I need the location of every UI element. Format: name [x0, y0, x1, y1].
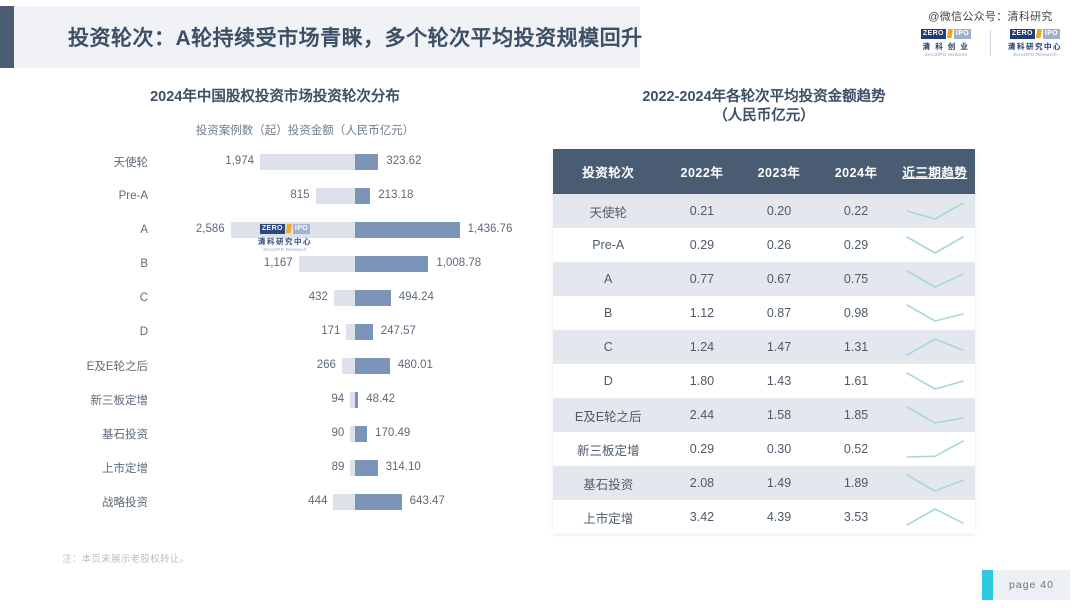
bar-chart-row: 战略投资444643.47: [60, 485, 490, 519]
bar-amount: [355, 222, 460, 238]
cell-2024: 0.29: [818, 228, 895, 262]
bar-row-label: A: [60, 224, 158, 236]
table-row: D1.801.431.61: [553, 364, 975, 398]
cell-trend-sparkline: [895, 228, 975, 262]
bar-row-track: 90170.49: [158, 417, 490, 451]
cell-2024: 1.89: [818, 466, 895, 500]
bar-amount: [355, 154, 379, 170]
bar-row-track: 9448.42: [158, 383, 490, 417]
cell-2024: 1.85: [818, 398, 895, 432]
table-row: 天使轮0.210.200.22: [553, 194, 975, 228]
cell-trend-sparkline: [895, 330, 975, 364]
investment-round-bar-chart: 投资案例数（起）投资金额（人民币亿元） 天使轮1,974323.62Pre-A8…: [60, 122, 490, 519]
bar-row-track: 266480.01: [158, 349, 490, 383]
bar-value-cases: 89: [332, 461, 351, 473]
bar-cases: [299, 256, 355, 272]
bar-row-track: 444643.47: [158, 485, 490, 519]
cell-2022: 3.42: [663, 500, 740, 534]
right-table-title: 2022-2024年各轮次平均投资金额趋势 （人民币亿元）: [553, 88, 975, 126]
table-header-row: 投资轮次 2022年 2023年 2024年 近三期趋势: [553, 149, 975, 194]
cell-trend-sparkline: [895, 398, 975, 432]
bar-cases: [231, 222, 355, 238]
bar-cases: [346, 324, 354, 340]
page-number: page 40: [993, 570, 1070, 600]
bar-chart-row: D171247.57: [60, 315, 490, 349]
cell-2022: 0.29: [663, 228, 740, 262]
bar-row-label: 新三板定增: [60, 392, 158, 408]
bar-value-amount: 247.57: [373, 325, 416, 337]
cell-2022: 1.24: [663, 330, 740, 364]
cell-2022: 0.29: [663, 432, 740, 466]
cell-2024: 0.22: [818, 194, 895, 228]
bar-chart-row: Pre-A815213.18: [60, 179, 490, 213]
col-2022: 2022年: [663, 149, 740, 194]
logo-en-name: Zero2IPO Ventures: [909, 52, 983, 57]
bar-value-amount: 1,436.76: [460, 223, 513, 235]
bar-value-amount: 1,008.78: [428, 257, 481, 269]
footnote: 注：本页未展示老股权转让。: [62, 551, 189, 565]
bar-value-amount: 170.49: [367, 427, 410, 439]
left-chart-title: 2024年中国股权投资市场投资轮次分布: [60, 88, 490, 107]
bar-value-cases: 1,974: [225, 155, 260, 167]
logo-mark-right: IPO: [954, 29, 971, 39]
cell-2024: 0.98: [818, 296, 895, 330]
logo-mark-right: IPO: [1043, 29, 1060, 39]
table-row: 基石投资2.081.491.89: [553, 466, 975, 500]
bar-row-track: 2,5861,436.76: [158, 213, 490, 247]
cell-2022: 2.44: [663, 398, 740, 432]
cell-round: 天使轮: [553, 194, 663, 228]
bar-row-track: 1,1671,008.78: [158, 247, 490, 281]
cell-2023: 0.20: [740, 194, 817, 228]
bar-chart-row: 上市定增89314.10: [60, 451, 490, 485]
bar-amount: [355, 324, 373, 340]
bar-row-label: C: [60, 292, 158, 304]
logo-divider: [990, 30, 991, 56]
table-row: 新三板定增0.290.300.52: [553, 432, 975, 466]
bar-row-label: 战略投资: [60, 494, 158, 510]
caption-cases: 投资案例数（起）: [196, 125, 288, 137]
cell-2023: 1.58: [740, 398, 817, 432]
logo-mark-left: ZERO: [921, 29, 946, 39]
cell-round: 基石投资: [553, 466, 663, 500]
cell-2022: 1.12: [663, 296, 740, 330]
bar-cases: [260, 154, 355, 170]
col-trend: 近三期趋势: [895, 149, 975, 194]
logo-slash-icon: [947, 29, 953, 38]
cell-2023: 0.87: [740, 296, 817, 330]
cell-round: C: [553, 330, 663, 364]
cell-round: D: [553, 364, 663, 398]
bar-value-cases: 444: [308, 495, 333, 507]
bar-chart-row: B1,1671,008.78: [60, 247, 490, 281]
cell-2023: 0.26: [740, 228, 817, 262]
bar-amount: [355, 460, 378, 476]
cell-trend-sparkline: [895, 500, 975, 534]
bar-amount: [355, 290, 391, 306]
cell-2023: 1.49: [740, 466, 817, 500]
bar-value-cases: 2,586: [196, 223, 231, 235]
bar-value-amount: 480.01: [390, 359, 433, 371]
bar-chart-row: C432494.24: [60, 281, 490, 315]
bar-rows: 天使轮1,974323.62Pre-A815213.18A2,5861,436.…: [60, 145, 490, 519]
bar-row-label: D: [60, 326, 158, 338]
bar-value-cases: 94: [331, 393, 350, 405]
bar-cases: [333, 494, 354, 510]
right-table-title-line1: 2022-2024年各轮次平均投资金额趋势: [553, 88, 975, 107]
bar-row-label: Pre-A: [60, 190, 158, 202]
table-row: Pre-A0.290.260.29: [553, 228, 975, 262]
bar-value-amount: 314.10: [378, 461, 421, 473]
logo-slash-icon: [1036, 29, 1042, 38]
bar-row-track: 89314.10: [158, 451, 490, 485]
bar-chart-row: 新三板定增9448.42: [60, 383, 490, 417]
table-row: A0.770.670.75: [553, 262, 975, 296]
cell-round: A: [553, 262, 663, 296]
bar-value-cases: 171: [321, 325, 346, 337]
cell-2024: 3.53: [818, 500, 895, 534]
bar-value-cases: 815: [290, 189, 315, 201]
cell-round: E及E轮之后: [553, 398, 663, 432]
bar-value-amount: 323.62: [378, 155, 421, 167]
page-title: 投资轮次：A轮持续受市场青睐，多个轮次平均投资规模回升: [68, 22, 643, 52]
cell-2023: 0.67: [740, 262, 817, 296]
cell-2024: 0.52: [818, 432, 895, 466]
cell-2024: 1.61: [818, 364, 895, 398]
header-accent-bar: [0, 6, 14, 68]
logo-en-name: Zero2IPO Research: [998, 52, 1072, 57]
cell-2024: 1.31: [818, 330, 895, 364]
wechat-handle: @微信公众号：清科研究: [909, 8, 1072, 24]
bar-chart-row: E及E轮之后266480.01: [60, 349, 490, 383]
logo-mark-left: ZERO: [1010, 29, 1035, 39]
cell-trend-sparkline: [895, 262, 975, 296]
bar-value-cases: 1,167: [264, 257, 299, 269]
bar-cases: [334, 290, 355, 306]
zero2ipo-ventures-logo: ZERO IPO 清 科 创 业 Zero2IPO Ventures: [909, 28, 983, 57]
cell-2023: 1.43: [740, 364, 817, 398]
bar-chart-row: 基石投资90170.49: [60, 417, 490, 451]
cell-trend-sparkline: [895, 194, 975, 228]
cell-2022: 2.08: [663, 466, 740, 500]
cell-2023: 4.39: [740, 500, 817, 534]
table-head: 投资轮次 2022年 2023年 2024年 近三期趋势: [553, 149, 975, 194]
table-row: B1.120.870.98: [553, 296, 975, 330]
cell-round: B: [553, 296, 663, 330]
bar-value-amount: 213.18: [370, 189, 413, 201]
col-round: 投资轮次: [553, 149, 663, 194]
zero2ipo-research-logo: ZERO IPO 清科研究中心 Zero2IPO Research: [998, 28, 1072, 57]
bar-row-track: 1,974323.62: [158, 145, 490, 179]
bar-amount: [355, 256, 429, 272]
logo-row: ZERO IPO 清 科 创 业 Zero2IPO Ventures ZERO …: [909, 28, 1072, 57]
slide: 投资轮次：A轮持续受市场青睐，多个轮次平均投资规模回升 @微信公众号：清科研究 …: [0, 0, 1080, 608]
bar-row-label: E及E轮之后: [60, 358, 158, 374]
cell-round: 新三板定增: [553, 432, 663, 466]
bar-amount: [355, 358, 390, 374]
bar-row-label: 天使轮: [60, 154, 158, 170]
cell-round: Pre-A: [553, 228, 663, 262]
bar-amount: [355, 188, 371, 204]
bar-row-track: 171247.57: [158, 315, 490, 349]
caption-amount: 投资金额（人民币亿元）: [288, 125, 415, 137]
cell-2023: 1.47: [740, 330, 817, 364]
bar-amount: [355, 426, 367, 442]
logo-cn-name: 清 科 创 业: [909, 41, 983, 52]
cell-2023: 0.30: [740, 432, 817, 466]
cell-2024: 0.75: [818, 262, 895, 296]
bar-cases: [316, 188, 355, 204]
brand-block: @微信公众号：清科研究 ZERO IPO 清 科 创 业 Zero2IPO Ve…: [909, 8, 1072, 57]
cell-round: 上市定增: [553, 500, 663, 534]
bar-chart-row: A2,5861,436.76: [60, 213, 490, 247]
bar-value-cases: 432: [309, 291, 334, 303]
table-row: E及E轮之后2.441.581.85: [553, 398, 975, 432]
page-indicator: page 40: [982, 570, 1070, 600]
bar-row-label: 上市定增: [60, 460, 158, 476]
cell-2022: 0.21: [663, 194, 740, 228]
bar-amount: [355, 494, 402, 510]
page-accent-bar: [982, 570, 993, 600]
cell-trend-sparkline: [895, 296, 975, 330]
bar-row-label: 基石投资: [60, 426, 158, 442]
table-row: C1.241.471.31: [553, 330, 975, 364]
cell-2022: 1.80: [663, 364, 740, 398]
table-row: 上市定增3.424.393.53: [553, 500, 975, 534]
table-body: 天使轮0.210.200.22Pre-A0.290.260.29A0.770.6…: [553, 194, 975, 534]
col-2024: 2024年: [818, 149, 895, 194]
cell-trend-sparkline: [895, 364, 975, 398]
cell-trend-sparkline: [895, 432, 975, 466]
right-table-title-line2: （人民币亿元）: [553, 107, 975, 126]
bar-row-track: 432494.24: [158, 281, 490, 315]
bar-value-amount: 643.47: [402, 495, 445, 507]
cell-trend-sparkline: [895, 466, 975, 500]
bar-row-label: B: [60, 258, 158, 270]
bar-value-amount: 48.42: [358, 393, 395, 405]
bar-value-amount: 494.24: [391, 291, 434, 303]
bar-value-cases: 266: [317, 359, 342, 371]
bar-value-cases: 90: [332, 427, 351, 439]
logo-cn-name: 清科研究中心: [998, 41, 1072, 52]
cell-2022: 0.77: [663, 262, 740, 296]
bar-chart-row: 天使轮1,974323.62: [60, 145, 490, 179]
bar-row-track: 815213.18: [158, 179, 490, 213]
bar-cases: [342, 358, 355, 374]
chart-axis-captions: 投资案例数（起）投资金额（人民币亿元）: [120, 122, 490, 138]
col-2023: 2023年: [740, 149, 817, 194]
avg-investment-trend-table: 投资轮次 2022年 2023年 2024年 近三期趋势 天使轮0.210.20…: [553, 149, 975, 534]
